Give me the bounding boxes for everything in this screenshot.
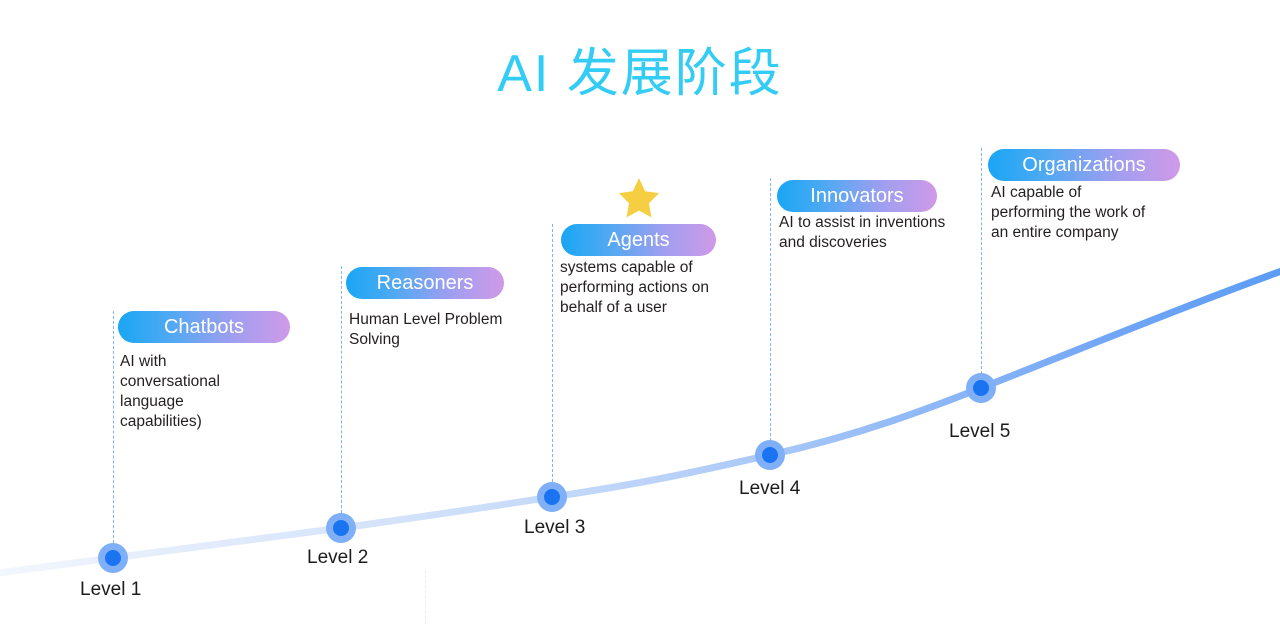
milestone-dot-level-4[interactable] (755, 440, 785, 470)
stage-description-innovators: AI to assist in inventions and discoveri… (779, 213, 989, 253)
stage-pill-agents[interactable]: Agents (561, 224, 716, 256)
stage-pill-innovators[interactable]: Innovators (777, 180, 937, 212)
level-label-3: Level 3 (524, 516, 585, 540)
background-guide-line (425, 570, 426, 624)
slide-canvas: AI 发展阶段 Level 1 Chatbots AI with convers… (0, 0, 1280, 624)
connector-line-level-1 (113, 311, 114, 543)
level-label-5: Level 5 (949, 420, 1010, 444)
stage-pill-organizations[interactable]: Organizations (988, 149, 1180, 181)
page-title: AI 发展阶段 (0, 40, 1280, 108)
milestone-dot-level-5[interactable] (966, 373, 996, 403)
stage-pill-reasoners[interactable]: Reasoners (346, 267, 504, 299)
milestone-dot-level-1[interactable] (98, 543, 128, 573)
milestone-dot-level-2[interactable] (326, 513, 356, 543)
connector-line-level-5 (981, 148, 982, 374)
level-label-1: Level 1 (80, 578, 141, 602)
connector-line-level-2 (341, 266, 342, 513)
star-icon (616, 175, 662, 221)
stage-description-chatbots: AI with conversational language capabili… (120, 352, 295, 432)
level-label-4: Level 4 (739, 477, 800, 501)
connector-line-level-3 (552, 224, 553, 482)
level-label-2: Level 2 (307, 546, 368, 570)
stage-description-agents: systems capable of performing actions on… (560, 258, 755, 318)
stage-pill-chatbots[interactable]: Chatbots (118, 311, 290, 343)
stage-description-reasoners: Human Level Problem Solving (349, 310, 544, 350)
stage-description-organizations: AI capable of performing the work of an … (991, 183, 1191, 243)
connector-line-level-4 (770, 178, 771, 441)
milestone-dot-level-3[interactable] (537, 482, 567, 512)
